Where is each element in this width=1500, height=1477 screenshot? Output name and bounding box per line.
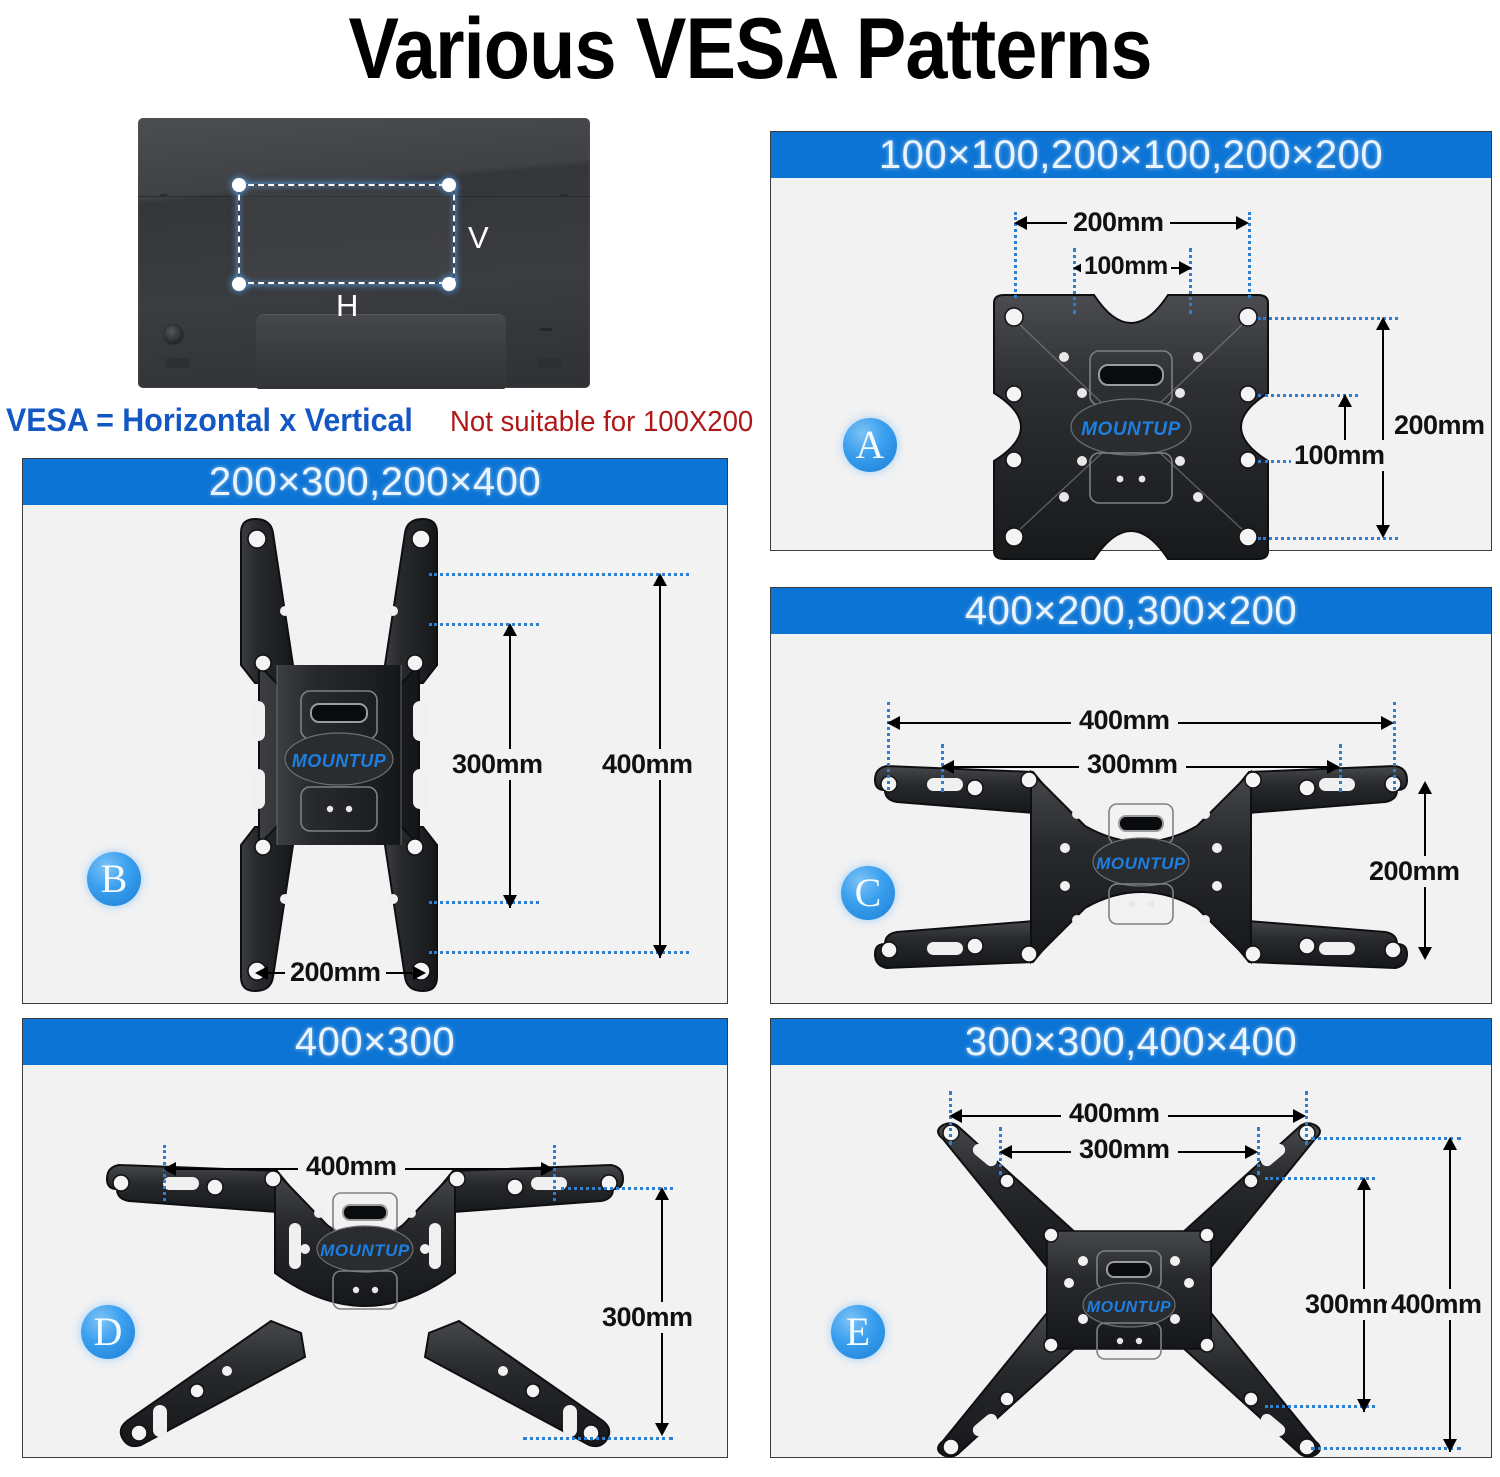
arrow-a-200-up (1376, 317, 1390, 330)
guide-e-right-1 (1311, 1137, 1461, 1140)
panel-d-body: D (23, 1065, 727, 1457)
panel-a-header: 100×100,200×100,200×200 (771, 132, 1491, 178)
arrow-d-400-left (163, 1162, 176, 1176)
dimlabel-a-top-inner: 100mm (1081, 252, 1171, 281)
arrow-c-400-right (1381, 716, 1394, 730)
tv-back-diagram: V H (138, 118, 590, 388)
panel-b-header: 200×300,200×400 (23, 459, 727, 505)
arrow-c-200-up (1418, 781, 1432, 794)
brand-logo-d: MOUNTUP (320, 1241, 410, 1260)
arrow-b-400-down (653, 945, 667, 958)
vesa-horizontal-label: H (336, 290, 358, 321)
dimlabel-c-top-inner: 300mm (1079, 749, 1186, 780)
bracket-a-illustration: MOUNTUP (986, 293, 1276, 563)
tv-screw-right (561, 194, 568, 197)
dimlabel-b-bottom: 200mm (285, 957, 386, 988)
brand-logo-b: MOUNTUP (292, 751, 387, 771)
dimline-a-200-right (1382, 320, 1384, 534)
tv-vent-left (166, 358, 190, 368)
arrow-b-200-left (255, 966, 268, 980)
tv-vent-right (538, 358, 562, 368)
tv-screw-left (160, 194, 167, 197)
guide-b-4 (429, 951, 689, 954)
page-title: Various VESA Patterns (90, 2, 1410, 96)
arrow-b-400-up (653, 573, 667, 586)
arrow-d-300-down (655, 1423, 669, 1436)
brand-logo-e: MOUNTUP (1087, 1299, 1171, 1316)
arrow-b-200-right (413, 966, 426, 980)
bracket-b-illustration: MOUNTUP (219, 515, 459, 995)
arrow-e-400-up (1443, 1137, 1457, 1150)
panel-d: 400×300 D (22, 1018, 728, 1458)
arrow-a-200-down (1376, 525, 1390, 538)
vesa-hole-top-right (442, 178, 456, 192)
vesa-warning-text: Not suitable for 100X200 (450, 406, 753, 439)
arrow-c-400-left (887, 716, 900, 730)
dimlabel-e-right-inner: 300mm (1301, 1289, 1400, 1320)
panel-d-header: 400×300 (23, 1019, 727, 1065)
dimlabel-a-top-outer: 200mm (1067, 207, 1170, 238)
brand-logo-c: MOUNTUP (1096, 854, 1186, 873)
tv-indicator (540, 328, 552, 331)
arrow-b-300-down (503, 895, 517, 908)
dimlabel-b-right-inner: 300mm (448, 749, 547, 780)
arrow-b-300-up (503, 623, 517, 636)
arrow-e-300-left (999, 1145, 1012, 1159)
brand-logo-a: MOUNTUP (1081, 419, 1181, 440)
tv-stand-foot (256, 314, 506, 389)
dimlabel-d-right: 300mm (598, 1302, 697, 1333)
arrow-e-300-up (1357, 1177, 1371, 1190)
dimlabel-b-right-outer: 400mm (598, 749, 697, 780)
arrow-a-200-right (1236, 216, 1249, 230)
arrow-a-200-left (1014, 216, 1027, 230)
guide-e-right-4 (1311, 1447, 1461, 1450)
panel-b: 200×300,200×400 B (22, 458, 728, 1004)
panel-a: 100×100,200×100,200×200 A (770, 131, 1492, 551)
vesa-hole-bottom-right (442, 277, 456, 291)
dimlabel-c-top-outer: 400mm (1071, 705, 1178, 736)
vesa-formula-text: VESA = Horizontal x Vertical (6, 402, 413, 439)
guide-a-top-inner-right (1189, 248, 1192, 314)
panel-c-body: C (771, 634, 1491, 1003)
panel-b-badge: B (87, 852, 141, 906)
arrow-e-300-down (1357, 1399, 1371, 1412)
vesa-vertical-label: V (468, 222, 489, 253)
guide-b-3 (429, 901, 539, 904)
panel-b-body: B (23, 505, 727, 1003)
panel-e-badge: E (831, 1305, 885, 1359)
panel-a-badge: A (843, 418, 897, 472)
vesa-hole-top-left (232, 178, 246, 192)
panel-e-body: E (771, 1065, 1491, 1457)
arrow-e-400-down (1443, 1439, 1457, 1452)
arrow-c-200-down (1418, 947, 1432, 960)
arrow-e-400-right (1293, 1109, 1306, 1123)
bracket-c-illustration: MOUNTUP (871, 752, 1411, 982)
infographic-page: Various VESA Patterns V H VESA = Horizon… (0, 0, 1500, 1477)
guide-b-2 (429, 623, 539, 626)
dimlabel-e-right-outer: 400mm (1387, 1289, 1486, 1320)
arrow-c-300-left (941, 760, 954, 774)
panel-e: 300×300,400×400 E (770, 1018, 1492, 1458)
arrow-e-300-right (1245, 1145, 1258, 1159)
panel-c: 400×200,300×200 C (770, 587, 1492, 1004)
panel-e-header: 300×300,400×400 (771, 1019, 1491, 1065)
dimlabel-a-right-inner: 100mm (1291, 440, 1388, 471)
dimlabel-c-right: 200mm (1365, 856, 1464, 887)
panel-a-body: A (771, 178, 1491, 550)
dimlabel-e-top-inner: 300mm (1071, 1134, 1178, 1165)
guide-a-top-inner-left (1073, 248, 1076, 314)
vesa-hole-bottom-left (232, 277, 246, 291)
arrow-d-400-right (541, 1162, 554, 1176)
arrow-a-100-right (1179, 261, 1192, 275)
dimlabel-a-right-outer: 200mm (1394, 410, 1485, 441)
panel-c-header: 400×200,300×200 (771, 588, 1491, 634)
arrow-c-300-right (1327, 760, 1340, 774)
vesa-caption: VESA = Horizontal x VerticalNot suitable… (6, 402, 770, 439)
guide-b-1 (429, 573, 689, 576)
arrow-a-100-up (1338, 394, 1352, 407)
dimlabel-d-top: 400mm (298, 1151, 405, 1182)
bracket-d-illustration: MOUNTUP (105, 1153, 625, 1453)
vesa-pattern-rectangle (238, 184, 455, 284)
arrow-e-400-left (949, 1109, 962, 1123)
dimlabel-e-top-outer: 400mm (1061, 1098, 1168, 1129)
tv-power-port-icon (163, 324, 184, 345)
arrow-d-300-up (655, 1187, 669, 1200)
guide-d-right-bottom (523, 1437, 673, 1440)
